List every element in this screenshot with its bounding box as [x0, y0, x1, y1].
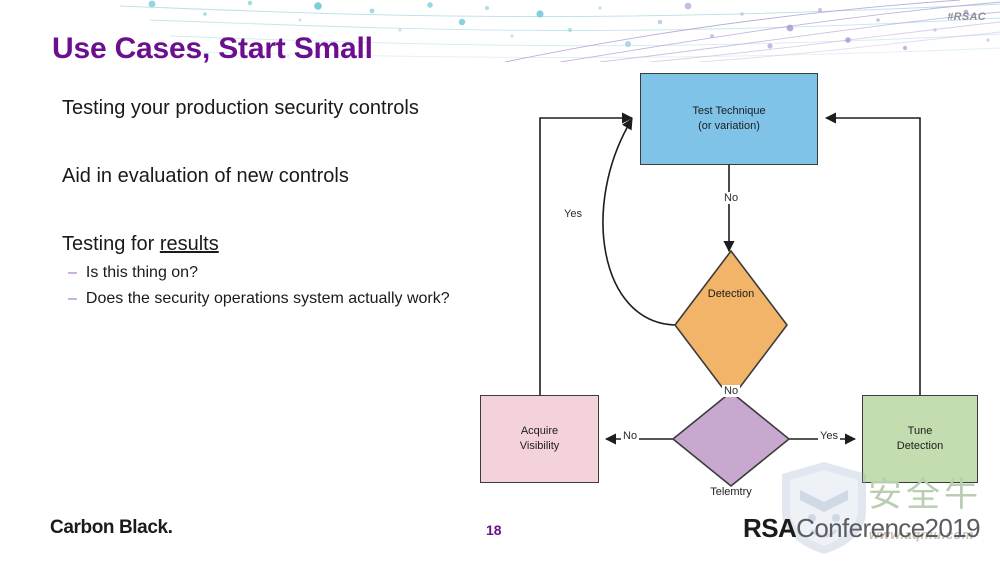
node-acquire-visibility-line2: Visibility [520, 439, 560, 454]
dash-bullet-icon: – [68, 290, 77, 308]
node-test-technique-line2: (or variation) [692, 119, 765, 134]
node-detection-label: Detection [675, 288, 787, 300]
node-telemtry-label: Telemtry [673, 486, 789, 498]
node-test-technique-line1: Test Technique [692, 104, 765, 119]
edge-label-yes-detection-to-test: Yes [562, 208, 584, 220]
node-acquire-visibility[interactable]: Acquire Visibility [480, 395, 599, 483]
results-heading-prefix: Testing for [62, 233, 160, 255]
flowchart-diagram: Test Technique (or variation) Acquire Vi… [460, 55, 1000, 500]
slide-canvas: #RSAC Use Cases, Start Small Testing you… [0, 0, 1000, 562]
node-telemtry-shape [673, 392, 789, 486]
dash-bullet-icon: – [68, 264, 77, 282]
node-tune-detection[interactable]: Tune Detection [862, 395, 978, 483]
node-test-technique[interactable]: Test Technique (or variation) [640, 73, 818, 165]
edge-tune-to-test [826, 118, 920, 395]
page-number: 18 [486, 522, 502, 538]
rsa-logo-mark: RSA [743, 513, 796, 543]
node-tune-detection-line1: Tune [897, 424, 943, 439]
node-detection-shape [675, 251, 787, 399]
node-tune-detection-line2: Detection [897, 439, 943, 454]
node-acquire-visibility-line1: Acquire [520, 424, 560, 439]
edge-label-no-detection-to-telemtry: No [722, 385, 740, 397]
list-item-label: Is this thing on? [86, 264, 198, 282]
edge-acquire-to-test [540, 118, 632, 395]
rsa-conference-logo: RSAConference2019 [743, 513, 980, 544]
edge-label-yes-telemtry-to-tune: Yes [818, 430, 840, 442]
results-heading-underlined: results [160, 233, 219, 255]
carbon-black-logo: Carbon Black. [50, 517, 173, 539]
edge-label-no-telemtry-to-acquire: No [621, 430, 639, 442]
edge-label-no-test-to-detection: No [722, 192, 740, 204]
page-title: Use Cases, Start Small [52, 32, 373, 66]
rsa-logo-text: Conference2019 [796, 513, 980, 543]
list-item-label: Does the security operations system actu… [86, 290, 450, 308]
rsac-hashtag: #RSAC [947, 11, 986, 23]
